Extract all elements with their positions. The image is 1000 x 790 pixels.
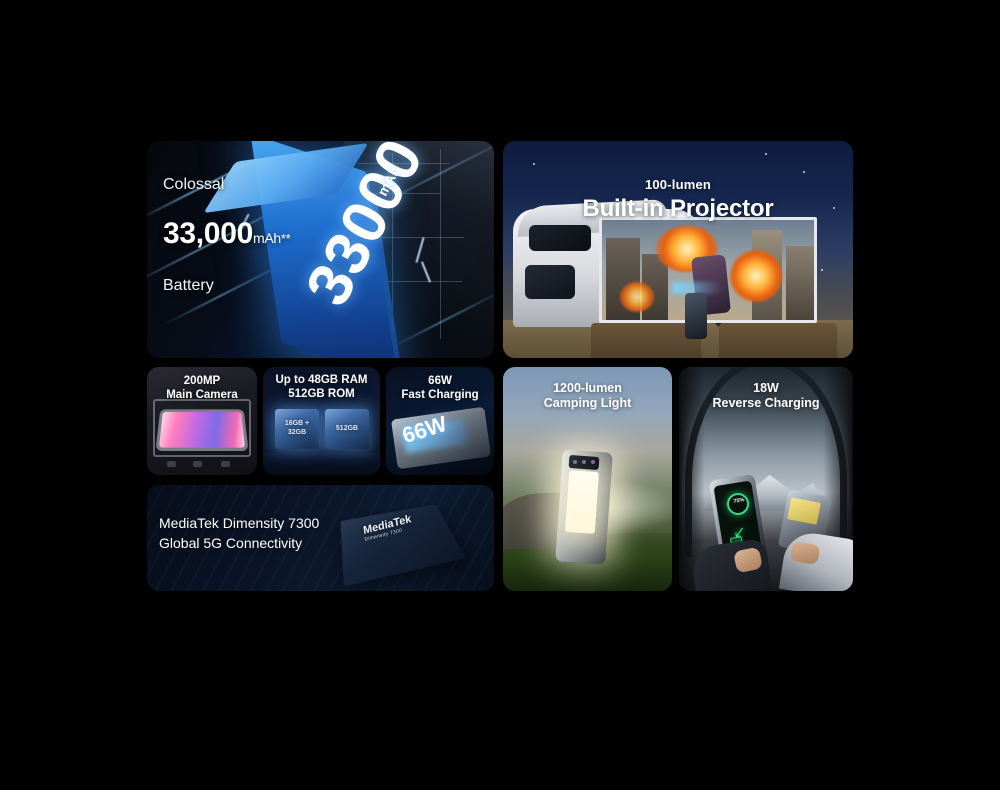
feature-card-reverse-charging[interactable]: 75% ↙ 18W Reverse Charging <box>679 367 853 591</box>
battery-suffix: Battery <box>163 276 290 296</box>
feature-card-mediatek[interactable]: MediaTekDimensity 7300 MediaTek Dimensit… <box>147 485 494 591</box>
camera-sensor-graphic <box>159 412 245 448</box>
ram-chip-graphic: 16GB + 32GB <box>275 409 319 449</box>
projector-title: Built-in Projector <box>582 195 773 222</box>
led-panel-graphic <box>565 470 599 534</box>
rom-chip-label: 512GB <box>336 425 358 434</box>
pcb-graphic <box>263 453 380 475</box>
feature-card-memory[interactable]: 16GB + 32GB 512GB Up to 48GB RAM 512GB R… <box>263 367 380 475</box>
battery-footnote: ** <box>281 231 291 246</box>
ram-chip-label: 16GB + 32GB <box>275 420 319 438</box>
battery-value-line: 33,000mAh** <box>163 216 290 253</box>
mediatek-caption: MediaTek Dimensity 7300 Global 5G Connec… <box>159 513 359 554</box>
rv-door-window-graphic <box>525 265 575 299</box>
projector-phone-graphic <box>685 293 707 339</box>
camera-caption: 200MP Main Camera <box>147 374 257 402</box>
fast-charging-caption: 66W Fast Charging <box>386 374 494 402</box>
reverse-charging-caption: 18W Reverse Charging <box>679 381 853 412</box>
rom-chip-graphic: 512GB <box>325 409 369 449</box>
camping-light-caption: 1200-lumen Camping Light <box>503 381 672 412</box>
projector-lumen: 100-lumen <box>645 177 711 192</box>
battery-value: 33,000 <box>163 217 253 250</box>
memory-caption: Up to 48GB RAM 512GB ROM <box>263 373 380 401</box>
battery-caption: Colossal 33,000mAh** Battery <box>163 155 290 315</box>
projector-caption: 100-lumen Built-in Projector <box>503 155 853 223</box>
feature-card-fast-charging[interactable]: 66W 66W Fast Charging <box>386 367 494 475</box>
battery-eyebrow: Colossal <box>163 175 290 195</box>
feature-card-camera[interactable]: 200MP Main Camera <box>147 367 257 475</box>
feature-grid: 33000 mAh Colossal 33,000mAh** Battery <box>0 0 1000 790</box>
rv-window-graphic <box>529 225 591 251</box>
chair-right-graphic <box>719 323 837 358</box>
feature-card-camping-light[interactable]: 1200-lumen Camping Light <box>503 367 672 591</box>
battery-unit: mAh <box>253 230 281 246</box>
feature-card-projector[interactable]: 100-lumen Built-in Projector <box>503 141 853 358</box>
feature-card-battery[interactable]: 33000 mAh Colossal 33,000mAh** Battery <box>147 141 494 358</box>
projection-screen-graphic <box>599 217 817 323</box>
